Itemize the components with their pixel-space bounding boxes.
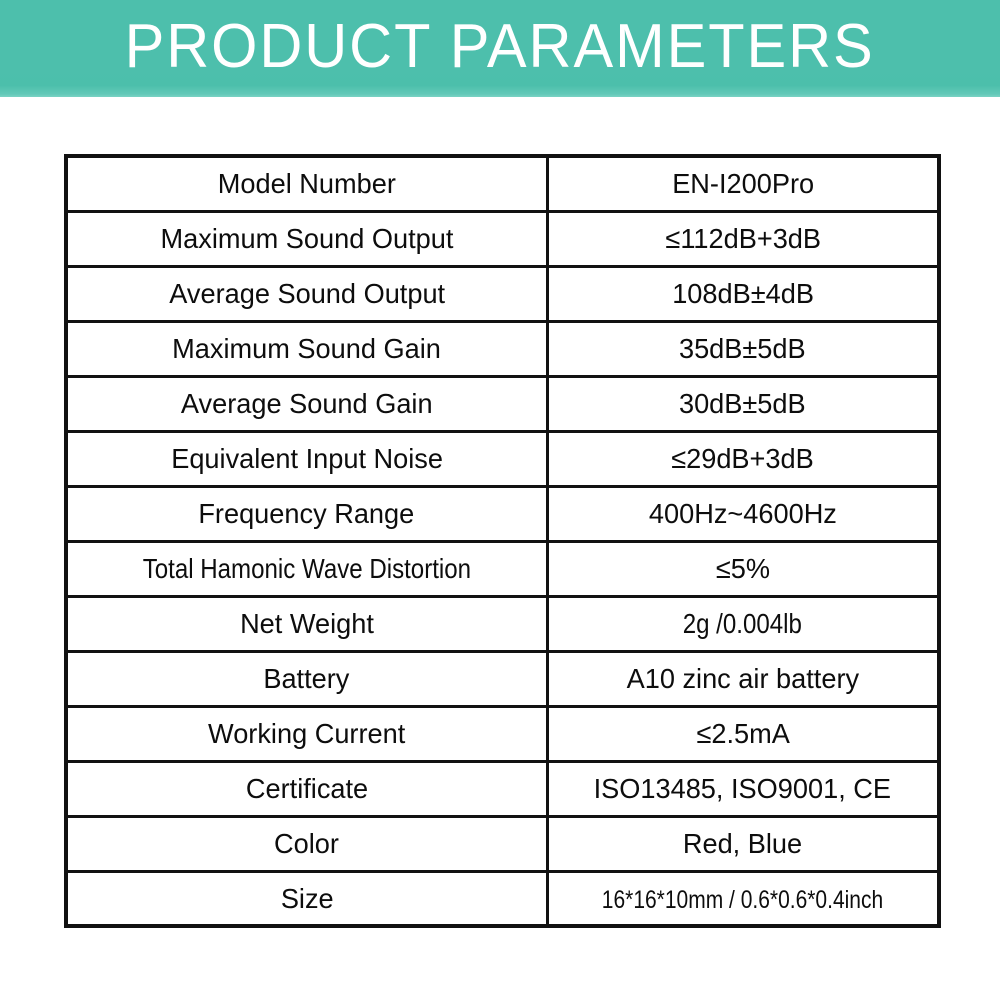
- parameter-value-text: 108dB±4dB: [672, 279, 814, 308]
- parameter-name-cell: Size: [66, 871, 547, 926]
- parameter-value-cell: ≤5%: [547, 541, 939, 596]
- table-row: Size16*16*10mm / 0.6*0.6*0.4inch: [66, 871, 939, 926]
- parameter-value-cell: ≤29dB+3dB: [547, 431, 939, 486]
- parameter-name-text: Working Current: [208, 719, 405, 748]
- parameter-name-text: Maximum Sound Gain: [172, 334, 441, 363]
- parameter-value-cell: 35dB±5dB: [547, 321, 939, 376]
- parameter-value-text: ≤112dB+3dB: [665, 224, 821, 253]
- parameter-name-cell: Maximum Sound Output: [66, 211, 547, 266]
- parameter-value-text: ≤2.5mA: [696, 719, 789, 748]
- parameter-name-cell: Model Number: [66, 156, 547, 211]
- parameter-name-text: Net Weight: [240, 609, 374, 638]
- parameter-name-cell: Average Sound Gain: [66, 376, 547, 431]
- parameter-name-cell: Color: [66, 816, 547, 871]
- parameter-name-cell: Battery: [66, 651, 547, 706]
- table-row: ColorRed, Blue: [66, 816, 939, 871]
- parameter-name-cell: Frequency Range: [66, 486, 547, 541]
- parameter-value-cell: Red, Blue: [547, 816, 939, 871]
- table-row: Average Sound Output108dB±4dB: [66, 266, 939, 321]
- parameter-value-cell: ISO13485, ISO9001, CE: [547, 761, 939, 816]
- table-row: Total Hamonic Wave Distortion≤5%: [66, 541, 939, 596]
- parameter-value-text: Red, Blue: [683, 829, 802, 858]
- table-row: Model NumberEN-I200Pro: [66, 156, 939, 211]
- parameter-name-text: Color: [274, 829, 339, 858]
- page-header-banner: PRODUCT PARAMETERS: [0, 0, 1000, 97]
- table-row: Equivalent Input Noise≤29dB+3dB: [66, 431, 939, 486]
- parameter-name-text: Certificate: [246, 774, 368, 803]
- parameter-name-cell: Average Sound Output: [66, 266, 547, 321]
- parameter-name-cell: Equivalent Input Noise: [66, 431, 547, 486]
- parameter-name-text: Equivalent Input Noise: [171, 444, 443, 473]
- parameter-name-text: Average Sound Gain: [181, 389, 433, 418]
- parameter-name-text: Size: [280, 884, 333, 913]
- table-row: Maximum Sound Output≤112dB+3dB: [66, 211, 939, 266]
- parameter-name-cell: Net Weight: [66, 596, 547, 651]
- parameter-value-text: ≤5%: [716, 554, 770, 583]
- parameter-value-text: 30dB±5dB: [679, 389, 806, 418]
- table-row: Maximum Sound Gain35dB±5dB: [66, 321, 939, 376]
- table-row: CertificateISO13485, ISO9001, CE: [66, 761, 939, 816]
- spec-table-body: Model NumberEN-I200ProMaximum Sound Outp…: [66, 156, 939, 926]
- parameter-name-text: Frequency Range: [199, 499, 415, 528]
- parameter-name-cell: Total Hamonic Wave Distortion: [66, 541, 547, 596]
- parameter-value-cell: 30dB±5dB: [547, 376, 939, 431]
- parameter-value-text: 400Hz~4600Hz: [649, 499, 837, 528]
- parameter-name-cell: Working Current: [66, 706, 547, 761]
- parameter-value-text: A10 zinc air battery: [627, 664, 859, 693]
- parameter-name-cell: Maximum Sound Gain: [66, 321, 547, 376]
- parameter-value-text: ≤29dB+3dB: [671, 444, 814, 473]
- parameter-value-text: 16*16*10mm / 0.6*0.6*0.4inch: [602, 887, 883, 913]
- table-row: BatteryA10 zinc air battery: [66, 651, 939, 706]
- product-parameters-table: Model NumberEN-I200ProMaximum Sound Outp…: [64, 154, 941, 928]
- parameter-value-cell: 400Hz~4600Hz: [547, 486, 939, 541]
- parameter-value-text: 2g /0.004lb: [683, 609, 802, 638]
- parameter-value-cell: 108dB±4dB: [547, 266, 939, 321]
- parameter-value-text: ISO13485, ISO9001, CE: [594, 774, 891, 803]
- parameter-name-text: Total Hamonic Wave Distortion: [143, 554, 471, 583]
- product-parameters-table-container: Model NumberEN-I200ProMaximum Sound Outp…: [64, 154, 937, 925]
- table-row: Working Current≤2.5mA: [66, 706, 939, 761]
- table-row: Net Weight2g /0.004lb: [66, 596, 939, 651]
- table-row: Average Sound Gain30dB±5dB: [66, 376, 939, 431]
- parameter-value-cell: EN-I200Pro: [547, 156, 939, 211]
- parameter-value-cell: ≤112dB+3dB: [547, 211, 939, 266]
- parameter-value-text: 35dB±5dB: [679, 334, 806, 363]
- parameter-value-cell: ≤2.5mA: [547, 706, 939, 761]
- parameter-value-cell: 16*16*10mm / 0.6*0.6*0.4inch: [547, 871, 939, 926]
- parameter-value-text: EN-I200Pro: [672, 169, 814, 198]
- parameter-value-cell: A10 zinc air battery: [547, 651, 939, 706]
- parameter-name-text: Average Sound Output: [169, 279, 445, 308]
- page-title: PRODUCT PARAMETERS: [125, 16, 875, 78]
- parameter-name-text: Model Number: [218, 169, 396, 198]
- parameter-name-cell: Certificate: [66, 761, 547, 816]
- parameter-name-text: Maximum Sound Output: [160, 224, 453, 253]
- table-row: Frequency Range400Hz~4600Hz: [66, 486, 939, 541]
- parameter-value-cell: 2g /0.004lb: [547, 596, 939, 651]
- parameter-name-text: Battery: [264, 664, 350, 693]
